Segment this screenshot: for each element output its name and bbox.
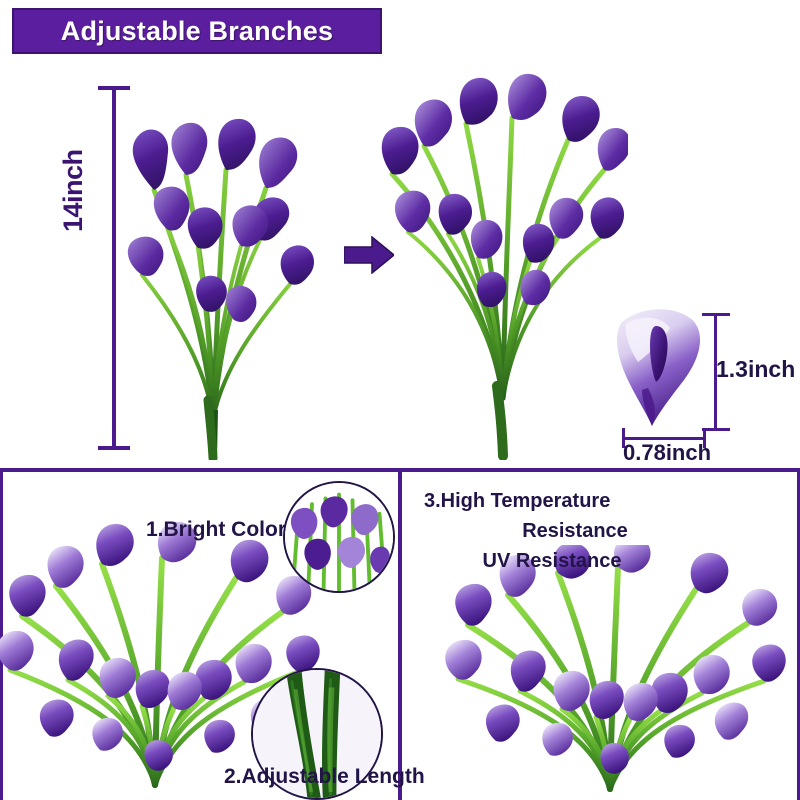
title-banner: Adjustable Branches xyxy=(12,8,382,54)
feature-label-resistance-line3: UV Resistance xyxy=(402,546,798,576)
flower-cluster-right-image xyxy=(424,545,796,800)
dimension-bar xyxy=(112,86,116,450)
flower-height-dimension-label: 1.3inch xyxy=(716,356,795,383)
height-dimension-line xyxy=(98,86,130,450)
page-title: Adjustable Branches xyxy=(61,16,333,47)
feature-label-bright-color: 1.Bright Color xyxy=(146,518,286,542)
feature-label-resistance-line2: Resistance xyxy=(402,516,798,546)
bouquet-spread-image xyxy=(378,48,628,460)
infographic-page: Adjustable Branches xyxy=(0,0,800,800)
bouquet-compact-image xyxy=(108,70,318,460)
feature-label-resistance-line1: 3.High Temperature xyxy=(402,486,798,516)
single-flower-image xyxy=(612,300,712,430)
feature-label-adjustable-length: 2.Adjustable Length xyxy=(224,765,425,789)
flower-width-dimension-label: 0.78inch xyxy=(623,440,711,466)
height-dimension-label: 14inch xyxy=(58,149,89,232)
feature-label-resistance: 3.High Temperature Resistance UV Resista… xyxy=(402,486,798,576)
dimension-cap-bottom xyxy=(702,428,730,431)
dimension-cap-bottom xyxy=(98,446,130,450)
flower-closeup-circle-icon xyxy=(283,481,395,593)
